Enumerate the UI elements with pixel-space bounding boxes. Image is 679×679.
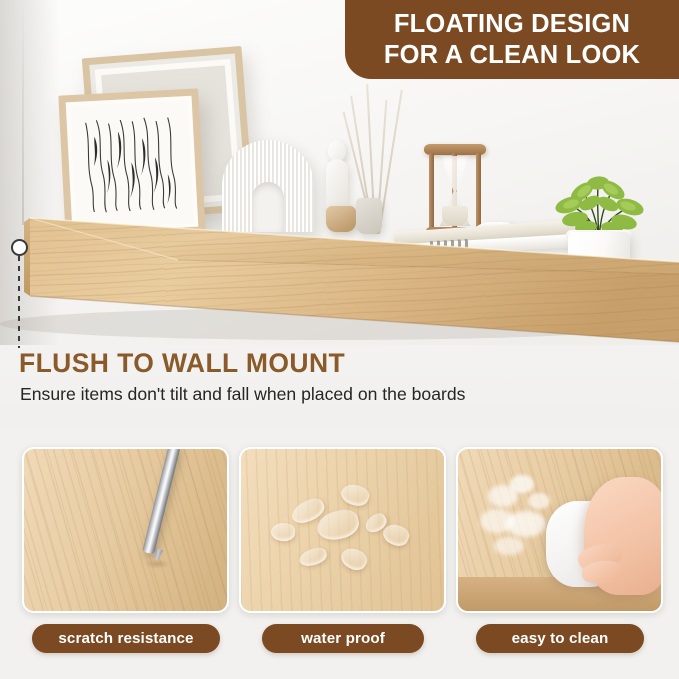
pill-water-proof: water proof bbox=[262, 624, 424, 653]
feature-subheadline: Ensure items don't tilt and fall when pl… bbox=[20, 384, 465, 405]
wall-corner-line bbox=[22, 0, 24, 225]
product-feature-image: FLOATING DESIGN FOR A CLEAN LOOK FLUSH T… bbox=[0, 0, 679, 679]
floating-design-banner: FLOATING DESIGN FOR A CLEAN LOOK bbox=[345, 0, 679, 79]
powder-speck bbox=[506, 511, 546, 537]
water-proof-photo bbox=[239, 447, 446, 613]
scratch-mark bbox=[144, 559, 170, 569]
callout-dot-marker bbox=[11, 239, 28, 256]
wood-shelf bbox=[0, 196, 679, 346]
pill-label: easy to clean bbox=[512, 630, 609, 647]
scratch-resistance-photo bbox=[22, 447, 229, 613]
pill-scratch-resistance: scratch resistance bbox=[32, 624, 220, 653]
powder-speck bbox=[510, 475, 534, 493]
pill-easy-to-clean: easy to clean bbox=[476, 624, 644, 653]
banner-line-1: FLOATING DESIGN bbox=[394, 9, 630, 39]
easy-to-clean-photo bbox=[456, 447, 663, 613]
banner-line-2: FOR A CLEAN LOOK bbox=[384, 40, 640, 70]
wood-surface-1 bbox=[24, 449, 227, 611]
pill-label: water proof bbox=[301, 630, 385, 647]
callout-dashed-line bbox=[18, 256, 20, 348]
powder-speck bbox=[494, 537, 524, 555]
powder-speck bbox=[528, 493, 550, 509]
shelf-board-graphic bbox=[0, 196, 679, 346]
feature-headline: FLUSH TO WALL MOUNT bbox=[19, 348, 345, 379]
pill-label: scratch resistance bbox=[58, 630, 193, 647]
feature-panels: scratch resistance water proof easy to c… bbox=[0, 447, 679, 679]
